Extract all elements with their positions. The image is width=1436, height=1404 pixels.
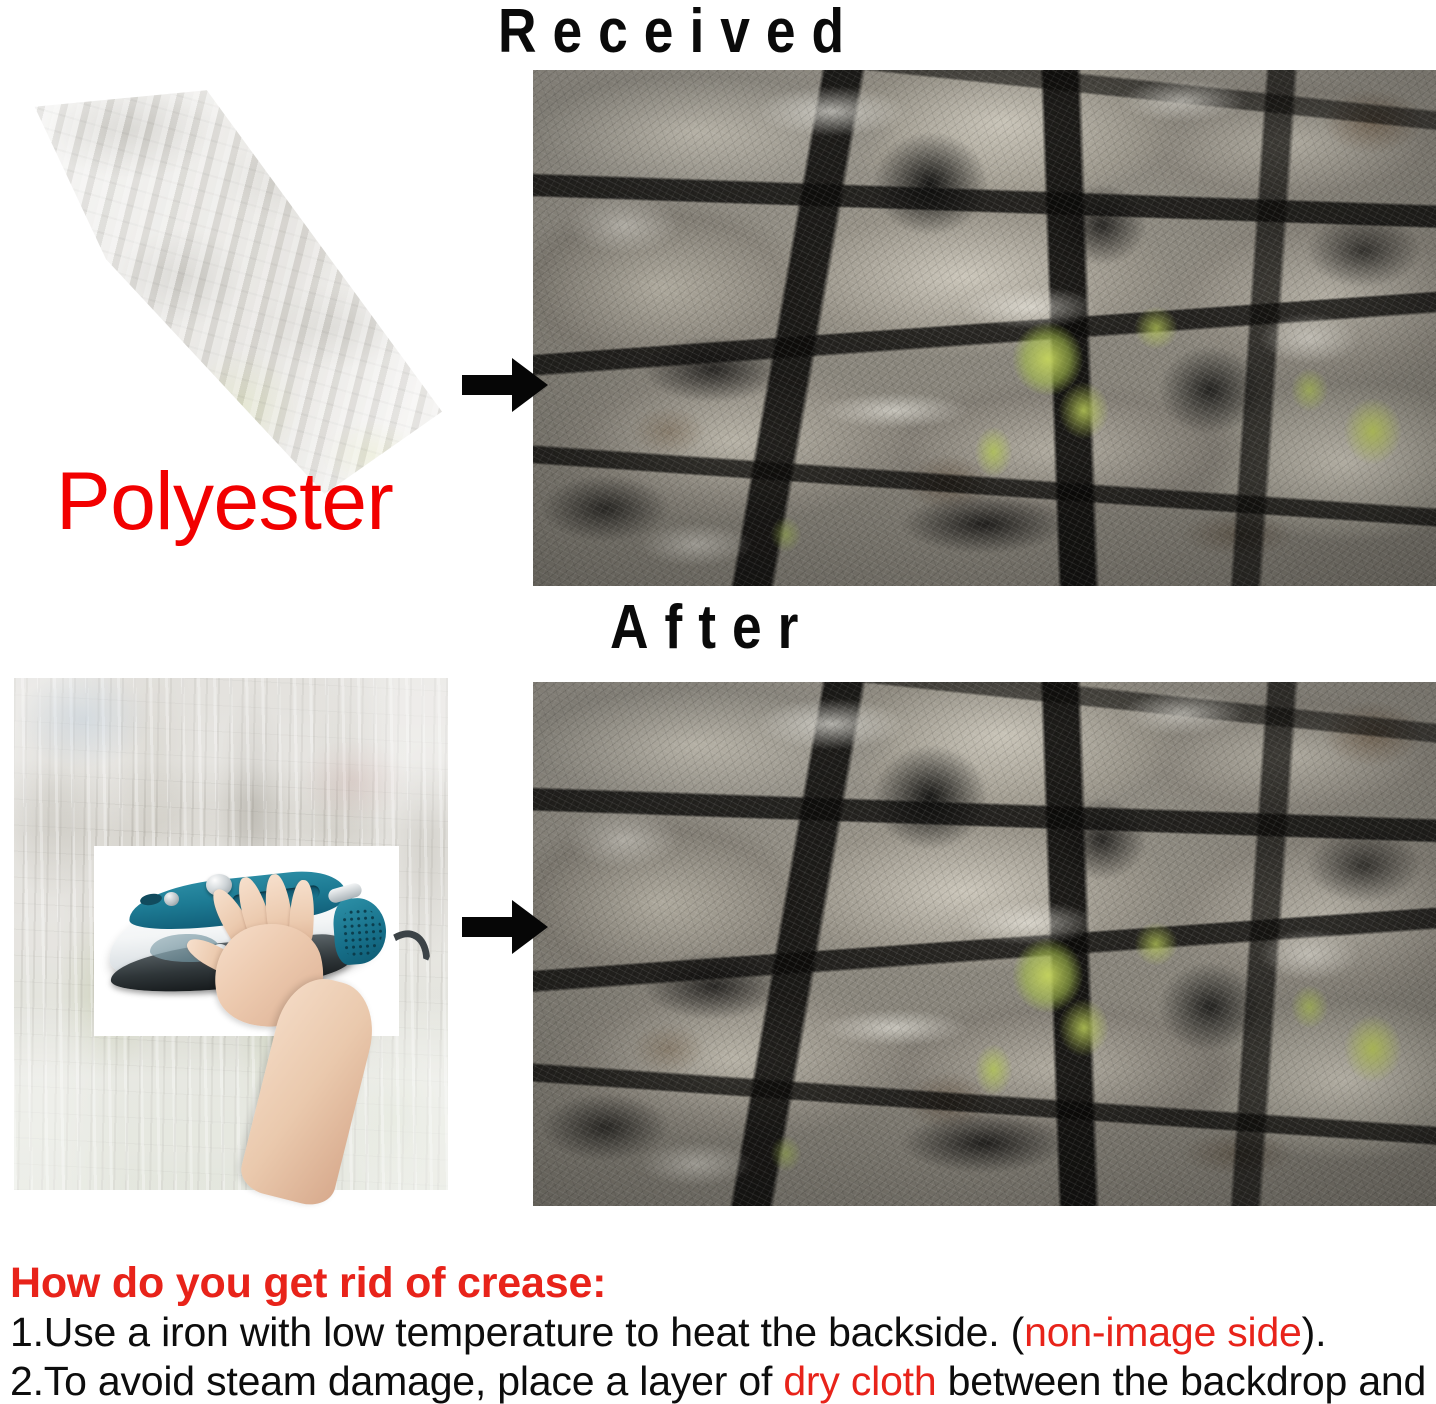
instruction-line-2: 2.To avoid steam damage, place a layer o… [10,1361,1430,1403]
right-arrow-icon [462,900,548,954]
right-arrow-icon [462,358,548,412]
after-heading: After [610,592,814,663]
instruction-1-highlight: non-image side [1024,1309,1302,1355]
instruction-2-highlight: dry cloth [783,1358,936,1404]
received-heading: Received [498,0,860,67]
instructions-title: How do you get rid of crease: [10,1262,1430,1305]
polyester-material-label: Polyester [56,455,393,549]
crease-removal-instructions: How do you get rid of crease: 1.Use a ir… [10,1262,1430,1403]
folded-polyester-fabric-image [22,82,442,494]
instruction-1-suffix: ). [1302,1309,1327,1355]
after-rock-backdrop-photo [533,682,1436,1206]
hand-on-iron-icon [14,678,448,1194]
instruction-2-suffix: between the backdrop and the iron. [936,1358,1436,1404]
fabric-edge-shading [22,82,442,494]
rock-vignette-layer [533,682,1436,1206]
instruction-1-prefix: 1.Use a iron with low temperature to hea… [10,1309,1024,1355]
rock-photo-layers [533,70,1436,586]
rock-photo-layers [533,682,1436,1206]
received-rock-backdrop-photo [533,70,1436,586]
rock-vignette-layer [533,70,1436,586]
instruction-line-1: 1.Use a iron with low temperature to hea… [10,1312,1430,1354]
instruction-2-prefix: 2.To avoid steam damage, place a layer o… [10,1358,783,1404]
ironing-demonstration-image [14,678,448,1194]
